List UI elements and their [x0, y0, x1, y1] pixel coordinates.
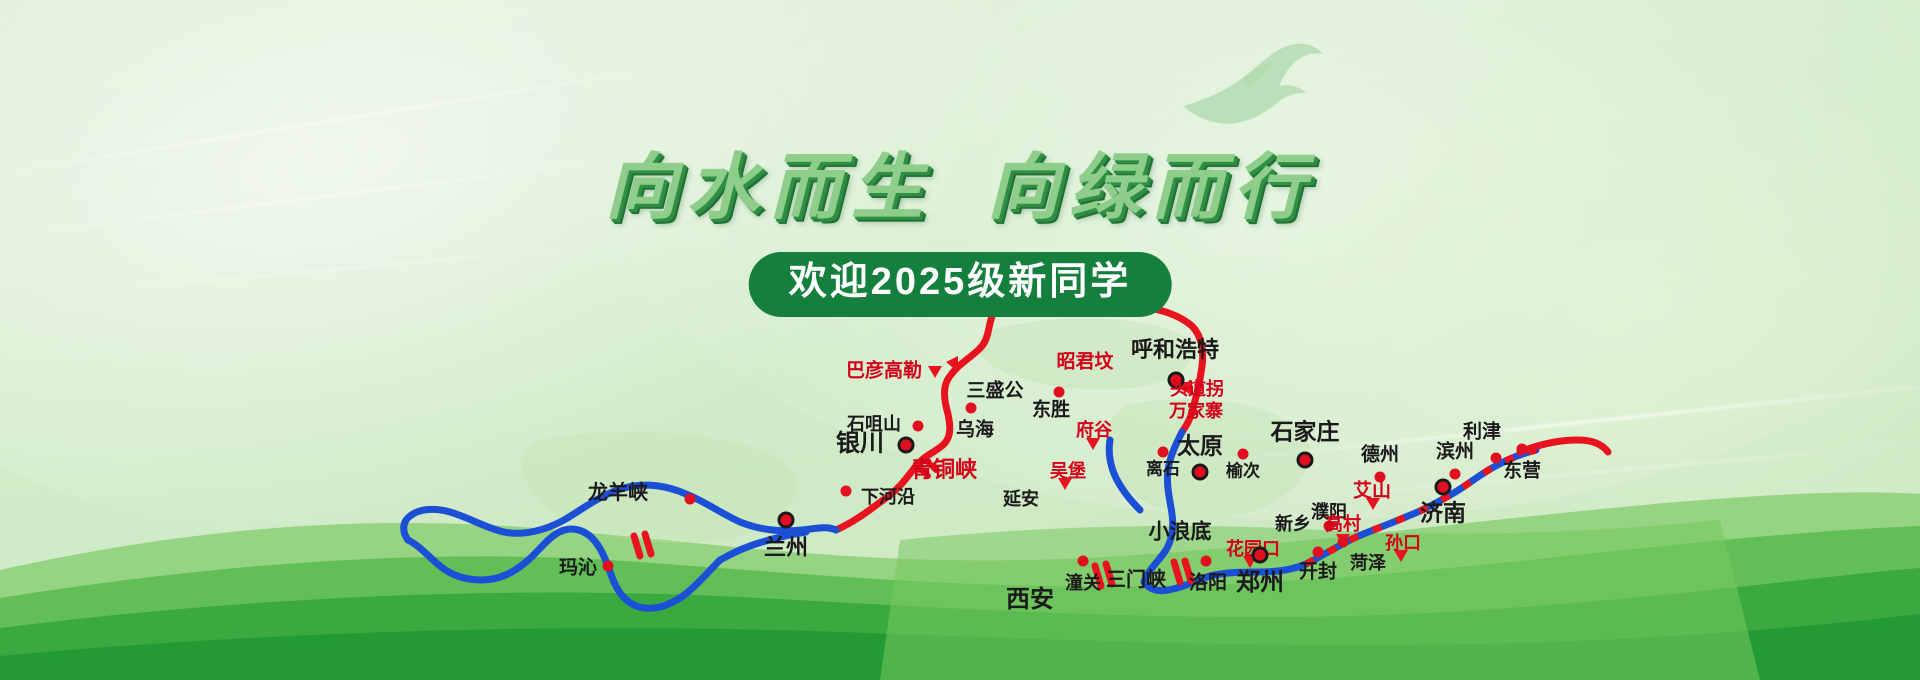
map-label: 东胜 [1032, 401, 1070, 420]
map-label: 三门峡 [1106, 570, 1166, 590]
map-city-dot [1491, 453, 1502, 464]
map-city-dot [1517, 444, 1528, 455]
map-city-dot [685, 494, 696, 505]
map-city-dot [603, 561, 614, 572]
map-label: 青铜峡 [911, 459, 977, 481]
map-label: 西安 [1006, 588, 1054, 612]
map-city-dot [841, 486, 852, 497]
map-label: 东营 [1503, 462, 1541, 481]
map-label: 昭君坟 [1056, 353, 1113, 372]
map-city-dot [1313, 547, 1324, 558]
map-city-dot [1338, 537, 1349, 548]
map-label: 潼关 [1065, 574, 1101, 592]
map-city-dot [1252, 547, 1269, 564]
map-label: 郑州 [1236, 571, 1284, 595]
light-streak [21, 240, 659, 298]
headline-right: 向绿而行 [987, 148, 1315, 228]
map-label: 滨州 [1436, 443, 1474, 462]
map-city-dot [1238, 449, 1249, 460]
map-label: 三盛公 [966, 382, 1023, 401]
map-label: 德州 [1361, 446, 1399, 465]
map-label: 龙羊峡 [588, 483, 648, 503]
map-label: 呼和浩特 [1131, 339, 1219, 361]
map-label: 兰州 [764, 537, 808, 559]
map-city-dot [1297, 452, 1314, 469]
map-city-dot [1054, 387, 1065, 398]
map-label: 小浪底 [1149, 522, 1212, 543]
map-label: 银川 [836, 432, 884, 456]
map-label: 离石 [1146, 461, 1180, 478]
map-city-dot [1450, 469, 1461, 480]
map-label: 洛阳 [1189, 574, 1227, 593]
map-label: 高村 [1325, 515, 1361, 533]
map-label: 头道拐 [1170, 380, 1224, 398]
map-label: 万家寨 [1169, 402, 1223, 420]
map-label: 菏泽 [1350, 554, 1386, 572]
map-label: 孙口 [1385, 534, 1421, 552]
map-city-dot [1192, 464, 1209, 481]
headline-left: 向水而生 [605, 148, 933, 228]
map-city-dot [778, 512, 795, 529]
welcome-banner: 巴彦高勒三盛公昭君坟呼和浩特头道拐万家寨东胜府谷石咀山乌海银川太原石家庄德州滨州… [0, 0, 1920, 680]
map-city-dot [898, 437, 915, 454]
map-city-dot [913, 421, 924, 432]
map-label: 利津 [1463, 423, 1501, 442]
map-city-dot [1435, 479, 1452, 496]
map-label: 榆次 [1226, 463, 1260, 480]
map-city-dot [1078, 556, 1089, 567]
dove-icon [1175, 28, 1325, 138]
map-label: 乌海 [956, 421, 994, 440]
map-label: 巴彦高勒 [846, 362, 922, 381]
map-label: 府谷 [1076, 421, 1112, 439]
map-city-dot [966, 403, 977, 414]
map-label: 济南 [1420, 502, 1466, 525]
map-label: 石家庄 [1271, 421, 1340, 444]
map-label: 开封 [1299, 563, 1337, 582]
map-label: 新乡 [1275, 515, 1311, 533]
map-label: 玛沁 [559, 559, 597, 578]
map-label: 下河沿 [861, 488, 915, 506]
page-title: 向水而生向绿而行 [0, 128, 1920, 233]
map-city-dot [1201, 556, 1212, 567]
map-label: 太原 [1177, 435, 1223, 458]
map-label: 延安 [1003, 490, 1039, 508]
map-label: 艾山 [1353, 482, 1391, 501]
map-label: 吴堡 [1050, 462, 1086, 480]
map-city-dot [1158, 447, 1169, 458]
welcome-badge: 欢迎2025级新同学 [749, 252, 1172, 317]
